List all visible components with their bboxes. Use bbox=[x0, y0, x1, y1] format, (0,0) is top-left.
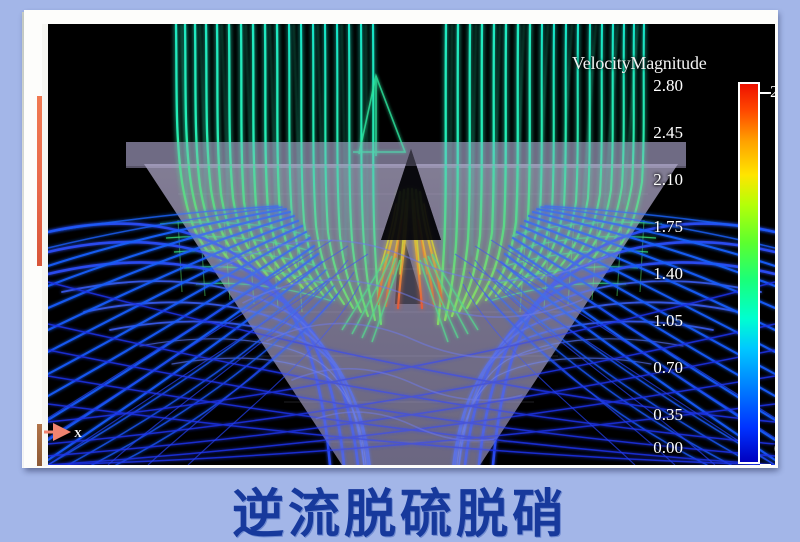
render-viewport[interactable]: VelocityMagnitude 2.80 2.45 2.10 1.75 1.… bbox=[48, 24, 775, 465]
scalar-bar-min-tickmark bbox=[760, 464, 771, 465]
scalar-bar-tick-2-80: 2.80 bbox=[627, 76, 683, 96]
scalar-bar-tick-0-35: 0.35 bbox=[627, 405, 683, 425]
scalar-bar-gradient[interactable] bbox=[738, 82, 760, 464]
scalar-bar-range-min: 0.00 bbox=[774, 439, 775, 459]
slide-caption: 逆流脱硫脱硝 bbox=[0, 472, 800, 542]
scalar-bar-tick-1-75: 1.75 bbox=[627, 217, 683, 237]
scalar-bar-tick-2-10: 2.10 bbox=[627, 170, 683, 190]
scalar-bar-tick-0-00: 0.00 bbox=[627, 438, 683, 458]
scalar-bar-range-max: 2.74 bbox=[770, 82, 775, 102]
scalar-bar-tick-1-05: 1.05 bbox=[627, 311, 683, 331]
scalar-bar-tick-0-70: 0.70 bbox=[627, 358, 683, 378]
scalar-bar-title: VelocityMagnitude bbox=[572, 53, 707, 74]
scalar-bar-tick-2-45: 2.45 bbox=[627, 123, 683, 143]
left-edge-salmon-strip bbox=[37, 96, 42, 266]
scalar-bar-tick-1-40: 1.40 bbox=[627, 264, 683, 284]
x-axis-label: X bbox=[74, 428, 82, 440]
slide-canvas: VelocityMagnitude 2.80 2.45 2.10 1.75 1.… bbox=[0, 0, 800, 542]
orientation-axes-widget[interactable]: X bbox=[42, 415, 98, 449]
